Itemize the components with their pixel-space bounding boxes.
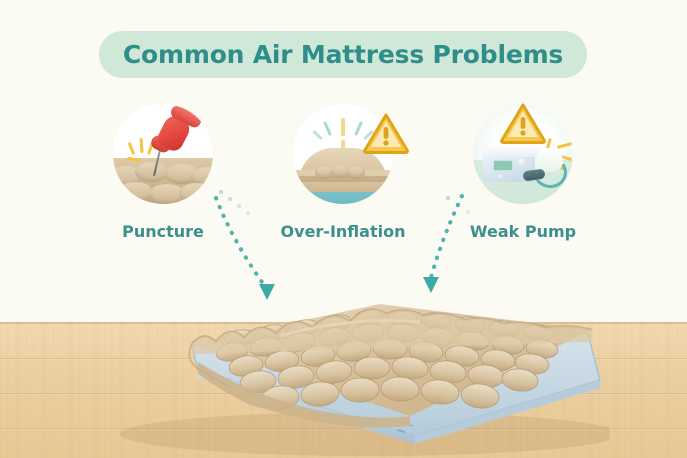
infographic-canvas: Common Air Mattress Problems: [0, 0, 687, 458]
pump-top-face: [484, 145, 542, 157]
decorative-dot: [246, 211, 250, 215]
pump-knob: [518, 158, 527, 167]
spark-ray: [312, 130, 323, 140]
warning-triangle-icon: [363, 112, 409, 154]
decorative-dot: [466, 210, 470, 214]
problem-label-weak-pump: Weak Pump: [443, 222, 603, 241]
problem-label-puncture: Puncture: [83, 222, 243, 241]
warning-triangle-icon: [500, 102, 546, 144]
page-title: Common Air Mattress Problems: [123, 40, 563, 69]
decorative-dot: [228, 197, 232, 201]
spark-ray: [354, 121, 363, 136]
problem-label-over-inflation: Over-Inflation: [263, 222, 423, 241]
spark-ray: [341, 140, 345, 149]
pump-indicator-light: [498, 174, 503, 179]
decorative-dot: [219, 190, 223, 194]
title-pill: Common Air Mattress Problems: [99, 31, 587, 78]
spark-ray: [128, 142, 136, 155]
pump-display: [493, 160, 513, 171]
decorative-dot: [446, 196, 450, 200]
decorative-dot: [237, 204, 241, 208]
spark-ray: [557, 142, 572, 149]
pushpin-puncture-icon: [113, 104, 213, 204]
decorative-dot: [456, 203, 460, 207]
spark-ray: [323, 121, 332, 136]
spark-ray: [341, 118, 345, 136]
air-mattress: [80, 258, 610, 458]
spark-ray: [139, 138, 143, 153]
